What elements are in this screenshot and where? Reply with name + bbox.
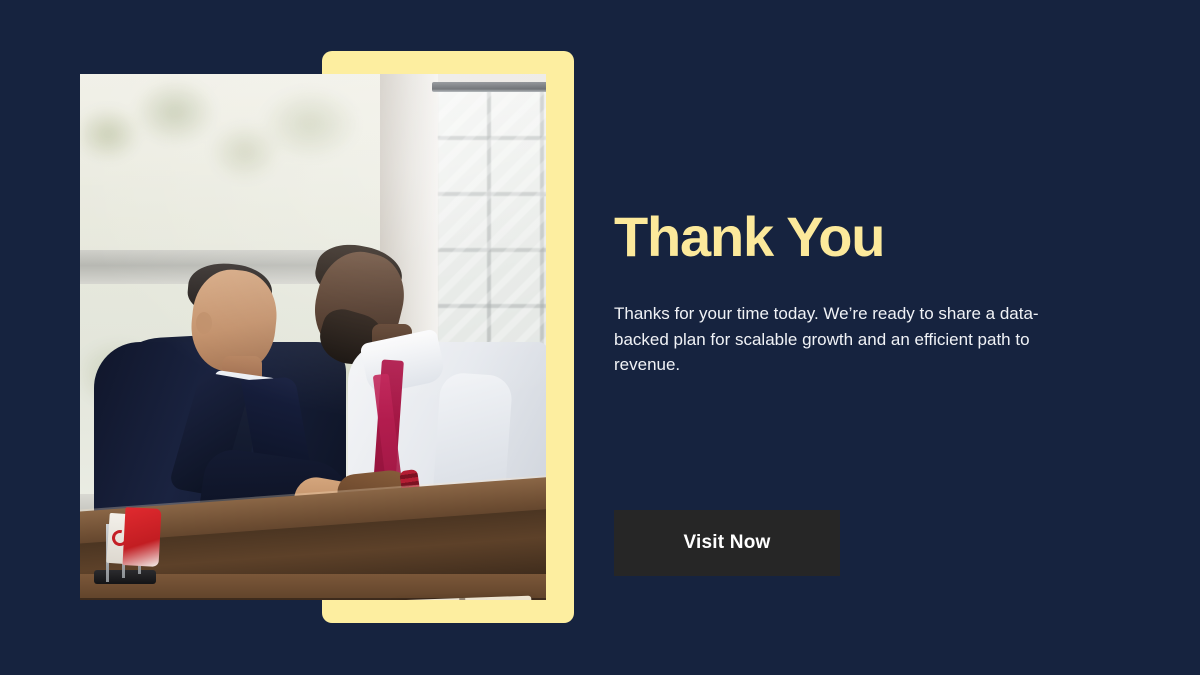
desk-flag-red [123,507,162,567]
page-title: Thank You [614,208,884,267]
blind-rail [432,82,546,92]
handshake-photo [80,74,546,600]
media-area [0,0,600,675]
visit-now-button[interactable]: Visit Now [614,510,840,576]
content-column: Thank You Thanks for your time today. We… [614,0,1134,675]
photo-scene [80,74,546,600]
thank-you-slide: Thank You Thanks for your time today. We… [0,0,1200,675]
man-navy-suit-ear [196,312,212,334]
desk-flag-base [94,570,156,584]
body-paragraph: Thanks for your time today. We’re ready … [614,301,1092,378]
